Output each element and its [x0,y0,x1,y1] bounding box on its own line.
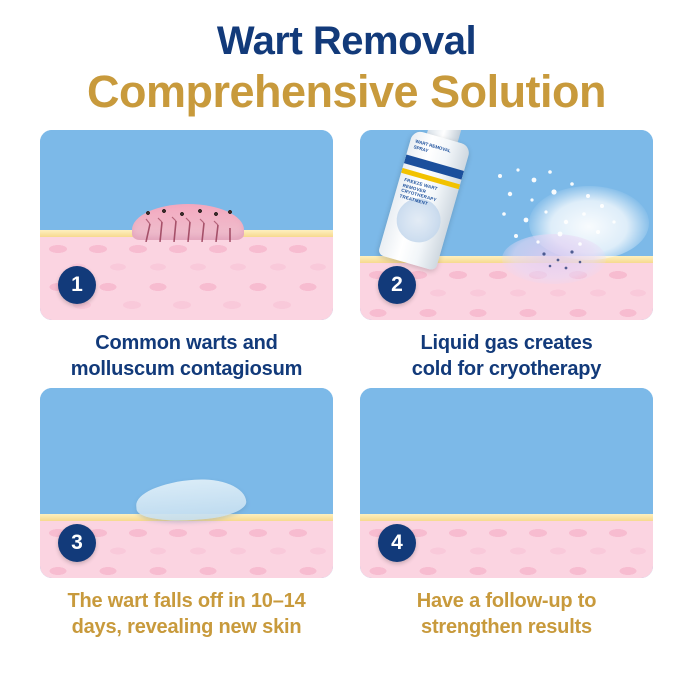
infographic-page: Wart Removal Comprehensive Solution 1 Co… [0,0,693,690]
steps-grid: 1 Common warts and molluscum contagiosum [40,130,653,640]
step-1-caption: Common warts and molluscum contagiosum [40,330,333,382]
step-number-badge-1: 1 [58,266,96,304]
step-3-illustration: 3 [40,388,333,578]
step-1-illustration: 1 [40,130,333,320]
step-2-caption-line1: Liquid gas creates [360,330,653,356]
step-number-badge-3: 3 [58,524,96,562]
step-4-caption: Have a follow-up to strengthen results [360,588,653,640]
step-card-2: WART REMOVAL SPRAY FREEZE WART REMOVER C… [360,130,653,382]
step-3-caption-line2: days, revealing new skin [40,614,333,640]
step-1-caption-line1: Common warts and [40,330,333,356]
step-card-1: 1 Common warts and molluscum contagiosum [40,130,333,382]
step-card-4: 4 Have a follow-up to strengthen results [360,388,653,640]
step-3-caption-line1: The wart falls off in 10–14 [40,588,333,614]
page-title-line1: Wart Removal [0,18,693,64]
step-2-caption-line2: cold for cryotherapy [360,356,653,382]
step-1-caption-line2: molluscum contagiosum [40,356,333,382]
page-title-line2: Comprehensive Solution [0,66,693,118]
header: Wart Removal Comprehensive Solution [0,0,693,118]
epidermis-layer-4 [360,514,653,521]
step-number-badge-4: 4 [378,524,416,562]
step-4-caption-line2: strengthen results [360,614,653,640]
wart-capillaries-icon [136,216,240,242]
step-2-illustration: WART REMOVAL SPRAY FREEZE WART REMOVER C… [360,130,653,320]
step-card-3: 3 The wart falls off in 10–14 days, reve… [40,388,333,640]
step-number-badge-2: 2 [378,266,416,304]
step-2-caption: Liquid gas creates cold for cryotherapy [360,330,653,382]
step-3-caption: The wart falls off in 10–14 days, reveal… [40,588,333,640]
step-4-caption-line1: Have a follow-up to [360,588,653,614]
spray-particles-icon [488,166,638,276]
sky-background-4 [360,388,653,514]
step-4-illustration: 4 [360,388,653,578]
